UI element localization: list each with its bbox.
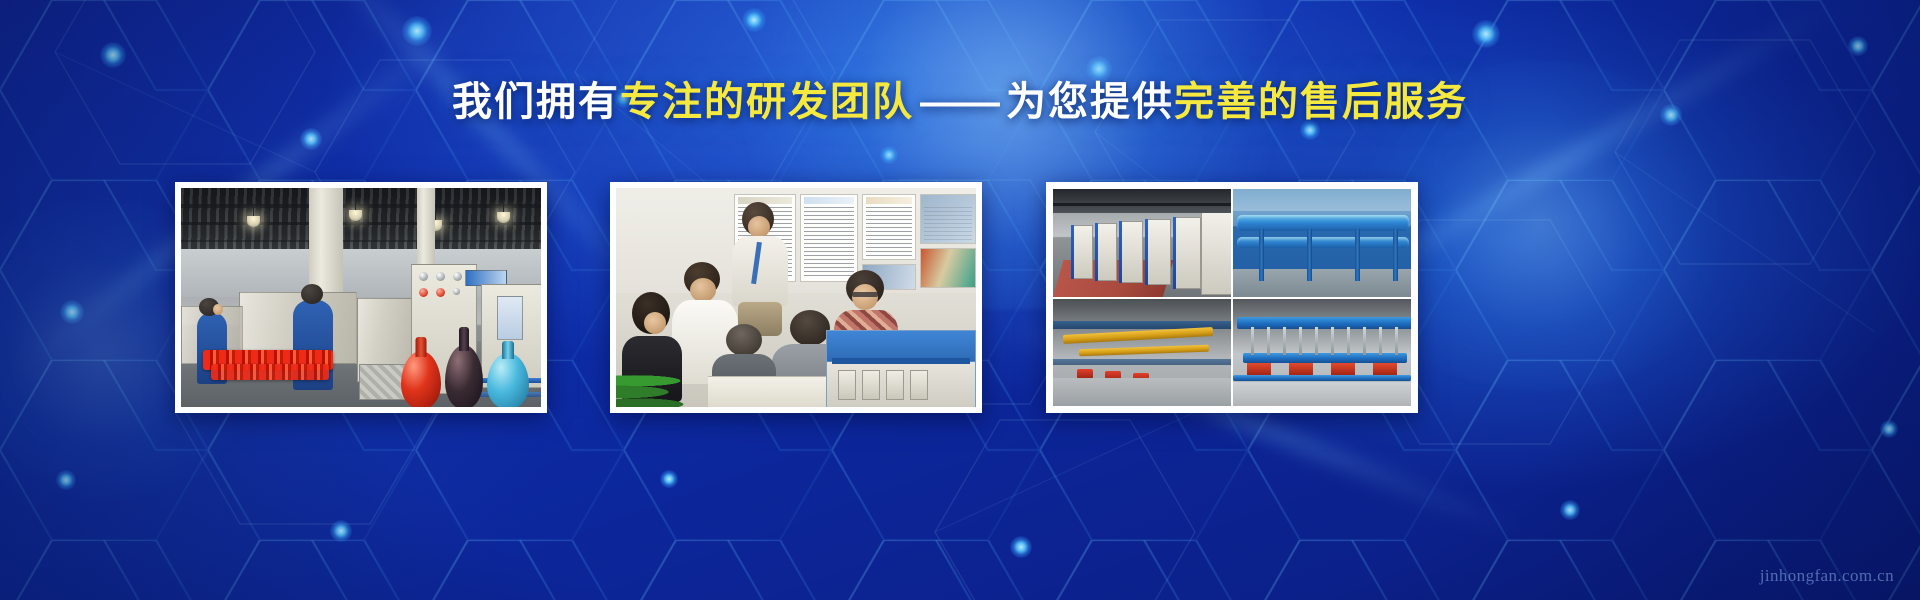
collage-panel-top-right [1232, 188, 1412, 298]
glow-node [56, 470, 76, 490]
production-line-photo [181, 188, 541, 407]
glow-node [1010, 536, 1032, 558]
workshop-collage-photo [1052, 188, 1412, 407]
headline-segment-4: 完善的售后服务 [1174, 80, 1468, 124]
headline-dash: —— [914, 80, 1006, 124]
promo-banner: 我们拥有专注的研发团队——为您提供完善的售后服务 [0, 0, 1920, 600]
glow-node [742, 8, 766, 32]
photo-card-workshop-collage[interactable] [1046, 182, 1418, 413]
glow-node [660, 470, 678, 488]
collage-panel-top-left [1052, 188, 1232, 298]
glow-node [1560, 500, 1580, 520]
glow-node [330, 520, 352, 542]
headline-segment-2: 专注的研发团队 [620, 80, 914, 124]
photo-card-production-line[interactable] [175, 182, 547, 413]
page-title: 我们拥有专注的研发团队——为您提供完善的售后服务 [0, 82, 1920, 122]
glow-node [100, 42, 126, 68]
vase-product-overlay [397, 319, 537, 407]
photo-card-row [0, 182, 1920, 414]
plant [616, 364, 722, 407]
glow-node [1086, 56, 1112, 82]
glow-node [1472, 20, 1500, 48]
photo-card-rnd-meeting[interactable] [610, 182, 982, 413]
glow-node [1848, 36, 1868, 56]
headline-segment-1: 我们拥有 [452, 80, 620, 124]
rnd-meeting-photo [616, 188, 976, 407]
glow-node [300, 128, 322, 150]
glow-node [402, 16, 432, 46]
site-watermark: jinhongfan.com.cn [1760, 566, 1894, 586]
collage-panel-bottom-right [1232, 298, 1412, 408]
glow-node [880, 146, 898, 164]
headline-segment-3: 为您提供 [1006, 80, 1174, 124]
collage-panel-bottom-left [1052, 298, 1232, 408]
glow-node [1880, 420, 1898, 438]
